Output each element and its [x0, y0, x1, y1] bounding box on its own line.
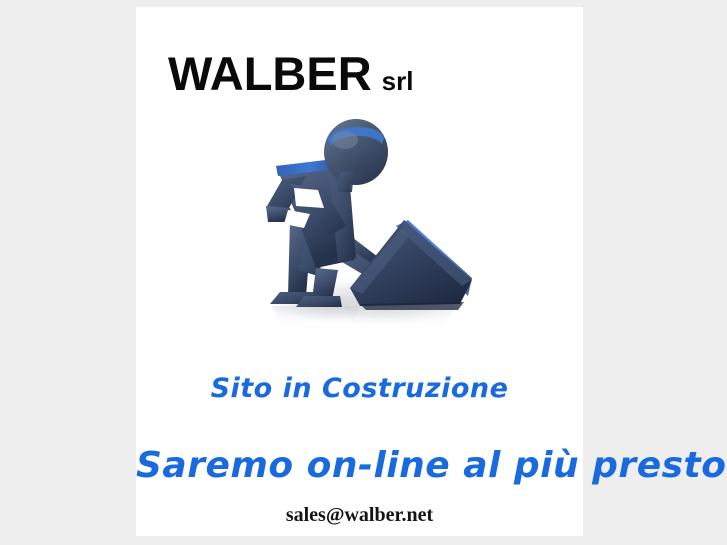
construction-worker-digging-icon [232, 110, 488, 338]
brand-name: WALBER [168, 47, 372, 100]
content-panel: WALBERsrl [136, 7, 583, 536]
status-message-primary: Sito in Costruzione [136, 373, 583, 404]
contact-email-link[interactable]: sales@walber.net [136, 504, 583, 527]
brand-legal-suffix: srl [382, 66, 414, 96]
page-title: WALBERsrl [168, 50, 413, 97]
status-message-secondary: Saremo on-line al più presto [136, 445, 583, 486]
